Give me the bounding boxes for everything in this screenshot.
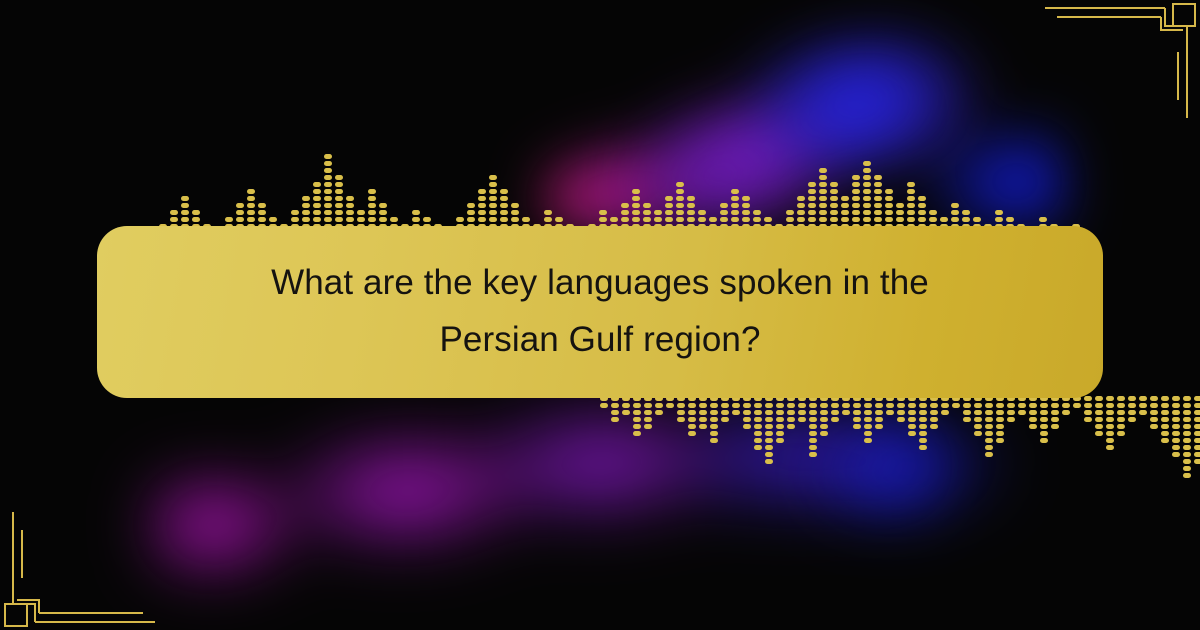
waveform-bar bbox=[1040, 396, 1048, 443]
waveform-bar bbox=[919, 396, 927, 450]
waveform-bar bbox=[1062, 396, 1070, 415]
waveform-dot bbox=[897, 410, 905, 415]
waveform-dot bbox=[291, 217, 299, 222]
waveform-dot bbox=[776, 424, 784, 429]
waveform-dot bbox=[798, 403, 806, 408]
waveform-dot bbox=[996, 403, 1004, 408]
waveform-dot bbox=[907, 196, 915, 201]
waveform-dot bbox=[720, 217, 728, 222]
waveform-dot bbox=[489, 203, 497, 208]
waveform-dot bbox=[1106, 410, 1114, 415]
waveform-dot bbox=[368, 210, 376, 215]
waveform-dot bbox=[687, 210, 695, 215]
waveform-dot bbox=[919, 438, 927, 443]
waveform-dot bbox=[721, 417, 729, 422]
waveform-bar bbox=[732, 396, 740, 415]
waveform-dot bbox=[644, 410, 652, 415]
waveform-dot bbox=[863, 168, 871, 173]
waveform-dot bbox=[644, 417, 652, 422]
waveform-dot bbox=[1183, 403, 1191, 408]
waveform-dot bbox=[324, 182, 332, 187]
waveform-dot bbox=[863, 196, 871, 201]
waveform-dot bbox=[1128, 417, 1136, 422]
waveform-dot bbox=[467, 210, 475, 215]
waveform-dot bbox=[786, 210, 794, 215]
question-text: What are the key languages spoken in the… bbox=[220, 255, 980, 368]
waveform-dot bbox=[974, 410, 982, 415]
waveform-dot bbox=[907, 182, 915, 187]
waveform-dot bbox=[732, 410, 740, 415]
waveform-dot bbox=[841, 217, 849, 222]
waveform-dot bbox=[973, 217, 981, 222]
waveform-dot bbox=[676, 210, 684, 215]
waveform-bar bbox=[798, 396, 806, 422]
waveform-dot bbox=[731, 189, 739, 194]
waveform-dot bbox=[951, 210, 959, 215]
waveform-dot bbox=[335, 175, 343, 180]
waveform-dot bbox=[864, 424, 872, 429]
waveform-dot bbox=[1040, 424, 1048, 429]
waveform-dot bbox=[831, 417, 839, 422]
waveform-bar bbox=[699, 396, 707, 429]
waveform-dot bbox=[633, 431, 641, 436]
waveform-dot bbox=[1106, 431, 1114, 436]
waveform-dot bbox=[677, 403, 685, 408]
waveform-dot bbox=[698, 217, 706, 222]
waveform-dot bbox=[1183, 396, 1191, 401]
waveform-dot bbox=[644, 424, 652, 429]
waveform-bar bbox=[1194, 396, 1200, 464]
waveform-dot bbox=[555, 217, 563, 222]
waveform-dot bbox=[478, 210, 486, 215]
waveform-dot bbox=[1172, 396, 1180, 401]
waveform-bar bbox=[688, 396, 696, 436]
waveform-bar bbox=[1183, 396, 1191, 478]
waveform-dot bbox=[809, 424, 817, 429]
waveform-dot bbox=[830, 203, 838, 208]
waveform-dot bbox=[324, 189, 332, 194]
waveform-dot bbox=[732, 403, 740, 408]
waveform-dot bbox=[962, 210, 970, 215]
waveform-dot bbox=[632, 217, 640, 222]
waveform-dot bbox=[1117, 396, 1125, 401]
waveform-dot bbox=[335, 210, 343, 215]
waveform-dot bbox=[742, 217, 750, 222]
waveform-dot bbox=[985, 410, 993, 415]
waveform-dot bbox=[1172, 403, 1180, 408]
waveform-dot bbox=[875, 403, 883, 408]
waveform-dot bbox=[489, 217, 497, 222]
waveform-dot bbox=[1150, 417, 1158, 422]
waveform-dot bbox=[742, 210, 750, 215]
waveform-dot bbox=[699, 410, 707, 415]
waveform-dot bbox=[907, 217, 915, 222]
waveform-dot bbox=[908, 410, 916, 415]
waveform-dot bbox=[919, 424, 927, 429]
waveform-dot bbox=[819, 203, 827, 208]
waveform-dot bbox=[819, 189, 827, 194]
waveform-bar bbox=[710, 396, 718, 443]
waveform-dot bbox=[1117, 431, 1125, 436]
waveform-dot bbox=[1139, 410, 1147, 415]
waveform-dot bbox=[743, 417, 751, 422]
waveform-dot bbox=[622, 403, 630, 408]
waveform-dot bbox=[765, 403, 773, 408]
waveform-dot bbox=[688, 403, 696, 408]
waveform-dot bbox=[621, 203, 629, 208]
waveform-dot bbox=[599, 210, 607, 215]
waveform-dot bbox=[676, 182, 684, 187]
waveform-dot bbox=[985, 431, 993, 436]
waveform-dot bbox=[808, 210, 816, 215]
waveform-dot bbox=[929, 217, 937, 222]
waveform-dot bbox=[1194, 445, 1200, 450]
waveform-dot bbox=[710, 403, 718, 408]
waveform-dot bbox=[1194, 424, 1200, 429]
waveform-dot bbox=[1095, 417, 1103, 422]
waveform-dot bbox=[863, 182, 871, 187]
waveform-dot bbox=[1150, 424, 1158, 429]
waveform-bar bbox=[633, 396, 641, 436]
waveform-bar bbox=[996, 396, 1004, 443]
gradient-blob-bottom-accent bbox=[773, 389, 1107, 572]
waveform-dot bbox=[1150, 403, 1158, 408]
waveform-dot bbox=[985, 438, 993, 443]
waveform-dot bbox=[864, 438, 872, 443]
waveform-dot bbox=[809, 403, 817, 408]
waveform-dot bbox=[412, 217, 420, 222]
waveform-dot bbox=[820, 403, 828, 408]
waveform-dot bbox=[687, 196, 695, 201]
waveform-dot bbox=[754, 438, 762, 443]
waveform-dot bbox=[864, 431, 872, 436]
waveform-dot bbox=[996, 438, 1004, 443]
waveform-dot bbox=[742, 203, 750, 208]
waveform-dot bbox=[996, 410, 1004, 415]
waveform-dot bbox=[864, 403, 872, 408]
waveform-dot bbox=[676, 189, 684, 194]
audio-waveform-top bbox=[148, 150, 1091, 236]
waveform-dot bbox=[897, 403, 905, 408]
waveform-dot bbox=[765, 438, 773, 443]
waveform-dot bbox=[478, 217, 486, 222]
waveform-dot bbox=[918, 217, 926, 222]
waveform-dot bbox=[258, 203, 266, 208]
waveform-dot bbox=[797, 210, 805, 215]
waveform-dot bbox=[313, 182, 321, 187]
waveform-dot bbox=[489, 182, 497, 187]
waveform-dot bbox=[1040, 431, 1048, 436]
waveform-dot bbox=[907, 210, 915, 215]
waveform-dot bbox=[335, 203, 343, 208]
waveform-dot bbox=[830, 189, 838, 194]
waveform-bar bbox=[622, 396, 630, 415]
waveform-dot bbox=[1029, 410, 1037, 415]
waveform-dot bbox=[1051, 417, 1059, 422]
waveform-dot bbox=[864, 410, 872, 415]
waveform-dot bbox=[412, 210, 420, 215]
waveform-bar bbox=[897, 396, 905, 422]
waveform-dot bbox=[874, 203, 882, 208]
waveform-dot bbox=[786, 217, 794, 222]
waveform-bar bbox=[787, 396, 795, 429]
waveform-dot bbox=[874, 175, 882, 180]
waveform-dot bbox=[765, 424, 773, 429]
waveform-dot bbox=[709, 217, 717, 222]
waveform-dot bbox=[1172, 424, 1180, 429]
waveform-dot bbox=[1128, 410, 1136, 415]
waveform-dot bbox=[874, 210, 882, 215]
waveform-dot bbox=[633, 417, 641, 422]
waveform-dot bbox=[1029, 403, 1037, 408]
waveform-dot bbox=[918, 196, 926, 201]
waveform-bar bbox=[765, 396, 773, 464]
waveform-dot bbox=[611, 417, 619, 422]
waveform-bar bbox=[1007, 396, 1015, 422]
waveform-dot bbox=[963, 417, 971, 422]
waveform-dot bbox=[269, 217, 277, 222]
waveform-dot bbox=[754, 417, 762, 422]
waveform-bar bbox=[1172, 396, 1180, 457]
waveform-dot bbox=[632, 210, 640, 215]
waveform-dot bbox=[765, 459, 773, 464]
waveform-dot bbox=[1006, 217, 1014, 222]
waveform-dot bbox=[302, 210, 310, 215]
waveform-dot bbox=[467, 203, 475, 208]
waveform-dot bbox=[721, 403, 729, 408]
waveform-dot bbox=[170, 210, 178, 215]
waveform-bar bbox=[930, 396, 938, 429]
waveform-dot bbox=[324, 217, 332, 222]
waveform-dot bbox=[864, 417, 872, 422]
waveform-dot bbox=[985, 403, 993, 408]
waveform-dot bbox=[335, 182, 343, 187]
waveform-dot bbox=[621, 217, 629, 222]
waveform-dot bbox=[842, 403, 850, 408]
waveform-dot bbox=[622, 410, 630, 415]
waveform-dot bbox=[335, 217, 343, 222]
waveform-dot bbox=[819, 182, 827, 187]
waveform-dot bbox=[1062, 410, 1070, 415]
waveform-bar bbox=[963, 396, 971, 422]
waveform-dot bbox=[908, 424, 916, 429]
waveform-dot bbox=[754, 410, 762, 415]
waveform-bar bbox=[644, 396, 652, 429]
waveform-bar bbox=[1084, 396, 1092, 422]
waveform-dot bbox=[940, 217, 948, 222]
waveform-dot bbox=[676, 196, 684, 201]
waveform-dot bbox=[809, 438, 817, 443]
waveform-dot bbox=[809, 410, 817, 415]
waveform-dot bbox=[665, 203, 673, 208]
waveform-dot bbox=[753, 217, 761, 222]
waveform-dot bbox=[1183, 459, 1191, 464]
waveform-dot bbox=[919, 410, 927, 415]
waveform-dot bbox=[644, 403, 652, 408]
waveform-dot bbox=[1040, 438, 1048, 443]
waveform-dot bbox=[1051, 403, 1059, 408]
audio-waveform-bottom bbox=[600, 396, 1200, 488]
waveform-dot bbox=[698, 210, 706, 215]
waveform-dot bbox=[776, 410, 784, 415]
waveform-dot bbox=[1128, 403, 1136, 408]
waveform-dot bbox=[478, 189, 486, 194]
waveform-dot bbox=[1095, 431, 1103, 436]
waveform-dot bbox=[1106, 438, 1114, 443]
waveform-dot bbox=[995, 210, 1003, 215]
waveform-dot bbox=[500, 210, 508, 215]
waveform-dot bbox=[951, 203, 959, 208]
waveform-dot bbox=[765, 410, 773, 415]
waveform-bar bbox=[1161, 396, 1169, 443]
waveform-dot bbox=[544, 210, 552, 215]
waveform-dot bbox=[885, 210, 893, 215]
waveform-dot bbox=[841, 196, 849, 201]
waveform-dot bbox=[787, 410, 795, 415]
waveform-dot bbox=[335, 196, 343, 201]
waveform-dot bbox=[996, 417, 1004, 422]
waveform-dot bbox=[776, 417, 784, 422]
waveform-dot bbox=[456, 217, 464, 222]
waveform-bar bbox=[809, 396, 817, 457]
waveform-dot bbox=[1183, 473, 1191, 478]
waveform-dot bbox=[1161, 410, 1169, 415]
waveform-dot bbox=[1117, 403, 1125, 408]
waveform-dot bbox=[808, 196, 816, 201]
waveform-dot bbox=[236, 210, 244, 215]
waveform-dot bbox=[1172, 417, 1180, 422]
waveform-dot bbox=[1095, 424, 1103, 429]
waveform-dot bbox=[951, 217, 959, 222]
waveform-dot bbox=[776, 431, 784, 436]
waveform-dot bbox=[974, 424, 982, 429]
waveform-dot bbox=[820, 431, 828, 436]
waveform-dot bbox=[853, 424, 861, 429]
waveform-dot bbox=[1007, 410, 1015, 415]
waveform-dot bbox=[753, 210, 761, 215]
waveform-dot bbox=[863, 161, 871, 166]
waveform-dot bbox=[787, 417, 795, 422]
waveform-dot bbox=[764, 217, 772, 222]
waveform-dot bbox=[863, 175, 871, 180]
waveform-dot bbox=[1051, 424, 1059, 429]
waveform-dot bbox=[863, 217, 871, 222]
waveform-dot bbox=[324, 161, 332, 166]
waveform-dot bbox=[621, 210, 629, 215]
waveform-dot bbox=[357, 217, 365, 222]
waveform-dot bbox=[1172, 431, 1180, 436]
waveform-dot bbox=[368, 203, 376, 208]
waveform-dot bbox=[258, 210, 266, 215]
waveform-dot bbox=[379, 203, 387, 208]
waveform-dot bbox=[500, 203, 508, 208]
waveform-dot bbox=[809, 417, 817, 422]
waveform-dot bbox=[489, 210, 497, 215]
waveform-dot bbox=[1051, 410, 1059, 415]
waveform-dot bbox=[896, 217, 904, 222]
waveform-dot bbox=[181, 217, 189, 222]
waveform-dot bbox=[710, 417, 718, 422]
waveform-dot bbox=[500, 196, 508, 201]
waveform-dot bbox=[522, 217, 530, 222]
waveform-dot bbox=[632, 189, 640, 194]
waveform-dot bbox=[787, 403, 795, 408]
waveform-dot bbox=[852, 210, 860, 215]
waveform-dot bbox=[665, 196, 673, 201]
waveform-dot bbox=[918, 210, 926, 215]
waveform-dot bbox=[379, 217, 387, 222]
waveform-dot bbox=[1183, 417, 1191, 422]
waveform-dot bbox=[974, 417, 982, 422]
waveform-dot bbox=[544, 217, 552, 222]
waveform-dot bbox=[324, 196, 332, 201]
waveform-dot bbox=[962, 217, 970, 222]
waveform-dot bbox=[688, 431, 696, 436]
waveform-dot bbox=[830, 217, 838, 222]
waveform-dot bbox=[247, 189, 255, 194]
waveform-dot bbox=[1172, 438, 1180, 443]
waveform-dot bbox=[346, 217, 354, 222]
corner-ornament-bottom-left-icon bbox=[0, 510, 185, 630]
waveform-dot bbox=[721, 410, 729, 415]
waveform-dot bbox=[985, 452, 993, 457]
waveform-dot bbox=[1194, 431, 1200, 436]
waveform-dot bbox=[247, 196, 255, 201]
waveform-bar bbox=[1095, 396, 1103, 436]
waveform-dot bbox=[1194, 438, 1200, 443]
waveform-dot bbox=[830, 182, 838, 187]
waveform-dot bbox=[765, 417, 773, 422]
waveform-dot bbox=[1095, 410, 1103, 415]
waveform-dot bbox=[633, 424, 641, 429]
waveform-dot bbox=[908, 417, 916, 422]
waveform-dot bbox=[930, 403, 938, 408]
waveform-dot bbox=[820, 424, 828, 429]
waveform-dot bbox=[1194, 417, 1200, 422]
waveform-dot bbox=[985, 424, 993, 429]
waveform-dot bbox=[1161, 417, 1169, 422]
waveform-dot bbox=[863, 203, 871, 208]
waveform-dot bbox=[830, 196, 838, 201]
waveform-dot bbox=[181, 203, 189, 208]
waveform-dot bbox=[1161, 424, 1169, 429]
waveform-dot bbox=[1106, 403, 1114, 408]
waveform-bar bbox=[1117, 396, 1125, 436]
waveform-dot bbox=[1095, 403, 1103, 408]
waveform-dot bbox=[643, 210, 651, 215]
waveform-dot bbox=[974, 431, 982, 436]
waveform-dot bbox=[720, 210, 728, 215]
waveform-dot bbox=[765, 445, 773, 450]
waveform-dot bbox=[743, 410, 751, 415]
waveform-dot bbox=[1029, 424, 1037, 429]
waveform-dot bbox=[996, 424, 1004, 429]
waveform-dot bbox=[643, 217, 651, 222]
waveform-dot bbox=[841, 203, 849, 208]
waveform-dot bbox=[633, 403, 641, 408]
waveform-dot bbox=[974, 403, 982, 408]
waveform-dot bbox=[170, 217, 178, 222]
waveform-dot bbox=[1194, 452, 1200, 457]
waveform-dot bbox=[192, 217, 200, 222]
waveform-dot bbox=[643, 203, 651, 208]
waveform-bar bbox=[941, 396, 949, 415]
waveform-dot bbox=[742, 196, 750, 201]
waveform-dot bbox=[885, 203, 893, 208]
waveform-dot bbox=[676, 203, 684, 208]
waveform-dot bbox=[776, 438, 784, 443]
waveform-dot bbox=[896, 203, 904, 208]
